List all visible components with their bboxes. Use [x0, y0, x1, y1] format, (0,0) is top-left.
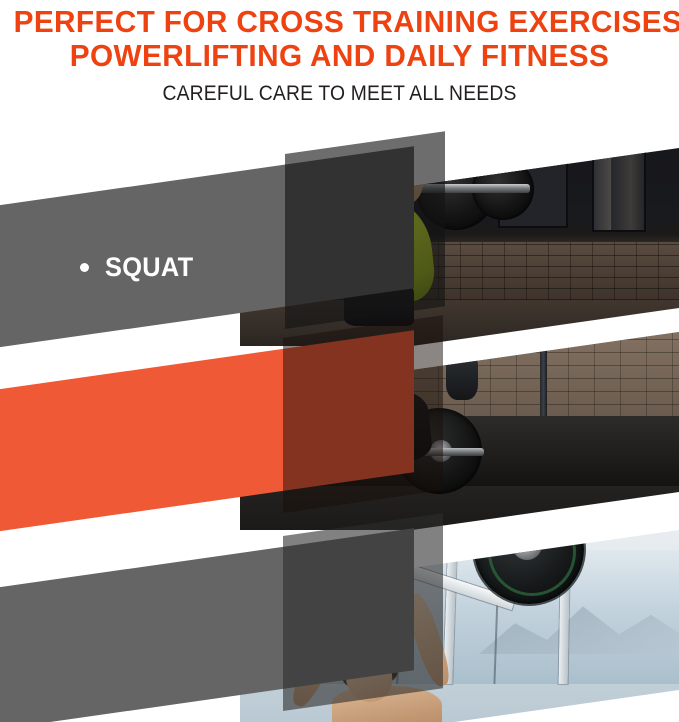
overlay-square-hard-pull	[283, 315, 443, 513]
overlay-square-squat	[285, 131, 445, 329]
product-feature-graphic: PERFECT FOR CROSS TRAINING EXERCISES POW…	[0, 0, 679, 722]
feature-panel-squat: SQUAT	[0, 130, 679, 330]
plate-hub	[512, 530, 542, 560]
gym-window	[592, 148, 646, 232]
feature-panel-hard-pull: HARD PULL	[0, 320, 679, 520]
subheadline: CAREFUL CARE TO MEET ALL NEEDS	[27, 81, 652, 107]
feature-panel-snatch: SNATCH	[0, 508, 679, 722]
header-block: PERFECT FOR CROSS TRAINING EXERCISES POW…	[0, 0, 679, 128]
headline-line-1: PERFECT FOR CROSS TRAINING EXERCISES	[14, 3, 666, 41]
rig-upright	[540, 332, 547, 424]
hanging-bag	[446, 358, 478, 400]
roof-beam	[240, 530, 679, 531]
overlay-square-snatch	[283, 513, 443, 711]
headline-line-2: POWERLIFTING AND DAILY FITNESS	[14, 37, 666, 75]
